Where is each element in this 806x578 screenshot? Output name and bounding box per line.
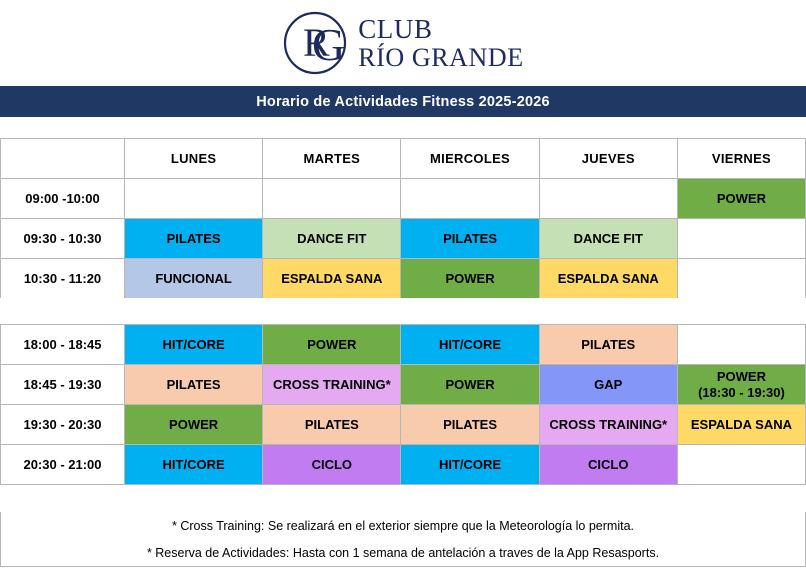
hour-cell: 09:00 -10:00 (1, 179, 125, 219)
activity-cell: HIT/CORE (125, 325, 263, 365)
activity-cell: HIT/CORE (125, 445, 263, 485)
monogram-icon: R G (282, 10, 348, 76)
hour-cell: 20:30 - 21:00 (1, 445, 125, 485)
table-row: 18:45 - 19:30PILATESCROSS TRAINING*POWER… (1, 365, 806, 405)
activity-cell: POWER (677, 179, 805, 219)
activity-cell: PILATES (539, 325, 677, 365)
empty-cell (539, 179, 677, 219)
hour-cell: 19:30 - 20:30 (1, 405, 125, 445)
morning-schedule-table: LUNES MARTES MIERCOLES JUEVES VIERNES 09… (0, 138, 806, 299)
activity-label: POWER (678, 369, 805, 385)
club-name: CLUB RÍO GRANDE (358, 15, 524, 71)
empty-cell (263, 179, 401, 219)
activity-cell: POWER (401, 365, 539, 405)
hour-cell: 18:45 - 19:30 (1, 365, 125, 405)
activity-cell: CROSS TRAINING* (539, 405, 677, 445)
footnote-cross-training: * Cross Training: Se realizará en el ext… (1, 512, 805, 539)
empty-cell (401, 179, 539, 219)
table-row: 19:30 - 20:30POWERPILATESPILATESCROSS TR… (1, 405, 806, 445)
header: R G CLUB RÍO GRANDE (0, 0, 806, 86)
activity-cell: ESPALDA SANA (539, 259, 677, 299)
activity-cell: DANCE FIT (263, 219, 401, 259)
club-logo: R G CLUB RÍO GRANDE (282, 10, 524, 76)
day-header-miercoles: MIERCOLES (401, 139, 539, 179)
day-header-row: LUNES MARTES MIERCOLES JUEVES VIERNES (1, 139, 806, 179)
schedule-title: Horario de Actividades Fitness 2025-2026 (0, 86, 806, 117)
hour-cell: 18:00 - 18:45 (1, 325, 125, 365)
table-row: 18:00 - 18:45HIT/COREPOWERHIT/COREPILATE… (1, 325, 806, 365)
day-header-blank (1, 139, 125, 179)
footnote-reservas: * Reserva de Actividades: Hasta con 1 se… (1, 539, 805, 566)
table-row: 20:30 - 21:00HIT/CORECICLOHIT/CORECICLO (1, 445, 806, 485)
empty-cell (125, 179, 263, 219)
activity-cell: PILATES (125, 365, 263, 405)
club-name-line1: CLUB (358, 15, 524, 43)
svg-text:G: G (312, 19, 345, 70)
activity-cell: POWER (401, 259, 539, 299)
activity-cell: PILATES (125, 219, 263, 259)
activity-cell: HIT/CORE (401, 445, 539, 485)
hour-cell: 10:30 - 11:20 (1, 259, 125, 299)
club-name-line2: RÍO GRANDE (358, 44, 524, 71)
activity-cell: POWER (125, 405, 263, 445)
empty-cell (677, 259, 805, 299)
empty-cell (677, 445, 805, 485)
activity-cell: FUNCIONAL (125, 259, 263, 299)
schedule-page: R G CLUB RÍO GRANDE Horario de Actividad… (0, 0, 806, 578)
footnotes: * Cross Training: Se realizará en el ext… (0, 512, 806, 567)
activity-cell: PILATES (263, 405, 401, 445)
day-header-jueves: JUEVES (539, 139, 677, 179)
activity-cell: CROSS TRAINING* (263, 365, 401, 405)
day-header-martes: MARTES (263, 139, 401, 179)
activity-cell: ESPALDA SANA (263, 259, 401, 299)
day-header-viernes: VIERNES (677, 139, 805, 179)
activity-time: (18:30 - 19:30) (678, 385, 805, 401)
activity-cell: POWER (263, 325, 401, 365)
activity-cell: CICLO (539, 445, 677, 485)
table-row: 09:30 - 10:30PILATESDANCE FITPILATESDANC… (1, 219, 806, 259)
table-row: 10:30 - 11:20FUNCIONALESPALDA SANAPOWERE… (1, 259, 806, 299)
empty-cell (677, 219, 805, 259)
evening-schedule-table: 18:00 - 18:45HIT/COREPOWERHIT/COREPILATE… (0, 324, 806, 485)
section-gap (0, 298, 806, 324)
day-header-lunes: LUNES (125, 139, 263, 179)
activity-cell: PILATES (401, 219, 539, 259)
activity-cell: PILATES (401, 405, 539, 445)
table-row: 09:00 -10:00POWER (1, 179, 806, 219)
empty-cell (677, 325, 805, 365)
activity-cell: GAP (539, 365, 677, 405)
activity-cell: DANCE FIT (539, 219, 677, 259)
hour-cell: 09:30 - 10:30 (1, 219, 125, 259)
activity-cell: ESPALDA SANA (677, 405, 805, 445)
activity-cell: CICLO (263, 445, 401, 485)
activity-cell: POWER(18:30 - 19:30) (677, 365, 805, 405)
activity-cell: HIT/CORE (401, 325, 539, 365)
